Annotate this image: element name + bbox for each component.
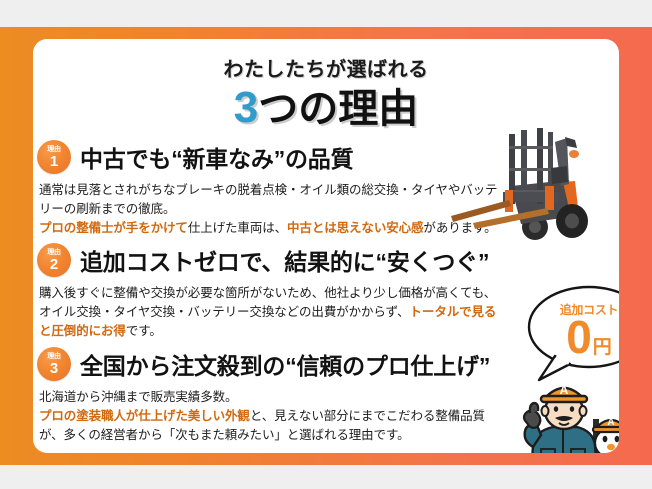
mascot-helmet-letter: A	[607, 417, 614, 428]
additional-cost-speech-bubble: 追加コスト 0 円	[525, 284, 619, 384]
reason-2-badge: 理由 2	[37, 243, 71, 277]
reason-block-3: 理由 3 全国から注文殺到の“信頼のプロ仕上げ” 北海道から沖縄まで販売実績多数…	[37, 346, 507, 445]
reason-2-badge-number: 2	[50, 257, 58, 272]
reason-1-title: 中古でも“新車なみ”の品質	[80, 140, 353, 174]
reason-1-body-text-1: 通常は見落とされがちなブレーキの脱着点検・オイル類の総交換・タイヤやバッテリーの…	[39, 183, 497, 216]
headline-title-rest: つの理由	[258, 87, 418, 131]
reason-1-badge-label: 理由	[47, 146, 60, 153]
poster-orange-frame: わたしたちが選ばれる 3つの理由 理由 1 中古でも“新車なみ”の品質 通常は見…	[0, 27, 652, 465]
reason-3-badge-number: 3	[50, 361, 58, 376]
poster-white-panel: わたしたちが選ばれる 3つの理由 理由 1 中古でも“新車なみ”の品質 通常は見…	[33, 39, 619, 453]
worker-with-forklift-mascot-illustration: A A	[511, 377, 619, 453]
worker-helmet-letter: A	[560, 383, 569, 397]
reason-2-body-text-2: です。	[126, 324, 162, 338]
reason-2-body: 購入後すぐに整備や交換が必要な箇所がないため、他社より少し価格が高くても、オイル…	[39, 284, 507, 341]
reason-3-body: 北海道から沖縄まで販売実績多数。 プロの塗装職人が仕上げた美しい外観と、見えない…	[39, 388, 507, 445]
reason-1-badge: 理由 1	[37, 140, 71, 174]
reason-3-highlight-1: プロの塗装職人が仕上げた美しい外観	[39, 409, 250, 423]
reason-1-highlight-1: プロの整備士が手をかけて	[39, 221, 188, 235]
headline-subtitle: わたしたちが選ばれる	[33, 59, 619, 81]
reason-1-body-text-2: 仕上げた車両は、	[188, 221, 287, 235]
reason-1-header: 理由 1 中古でも“新車なみ”の品質	[37, 139, 507, 175]
reason-2-title: 追加コストゼロで、結果的に“安くつぐ”	[80, 243, 489, 277]
headline-block: わたしたちが選ばれる 3つの理由	[33, 59, 619, 132]
reason-3-badge-label: 理由	[47, 353, 60, 360]
reason-3-body-text-1: 北海道から沖縄まで販売実績多数。	[39, 390, 237, 404]
headline-number: 3	[234, 83, 258, 132]
reason-block-1: 理由 1 中古でも“新車なみ”の品質 通常は見落とされがちなブレーキの脱着点検・…	[37, 139, 507, 238]
reason-block-2: 理由 2 追加コストゼロで、結果的に“安くつぐ” 購入後すぐに整備や交換が必要な…	[37, 242, 507, 341]
reason-1-highlight-2: 中古とは思えない安心感	[287, 221, 423, 235]
reason-1-body: 通常は見落とされがちなブレーキの脱着点検・オイル類の総交換・タイヤやバッテリーの…	[39, 181, 507, 238]
speech-bubble-shape	[525, 284, 619, 384]
reason-3-header: 理由 3 全国から注文殺到の“信頼のプロ仕上げ”	[37, 346, 507, 382]
reason-2-badge-label: 理由	[47, 249, 60, 256]
reason-3-title: 全国から注文殺到の“信頼のプロ仕上げ”	[80, 347, 490, 381]
reason-1-badge-number: 1	[50, 154, 58, 169]
reason-2-header: 理由 2 追加コストゼロで、結果的に“安くつぐ”	[37, 242, 507, 278]
reason-3-badge: 理由 3	[37, 347, 71, 381]
forklift-photo	[451, 124, 619, 249]
